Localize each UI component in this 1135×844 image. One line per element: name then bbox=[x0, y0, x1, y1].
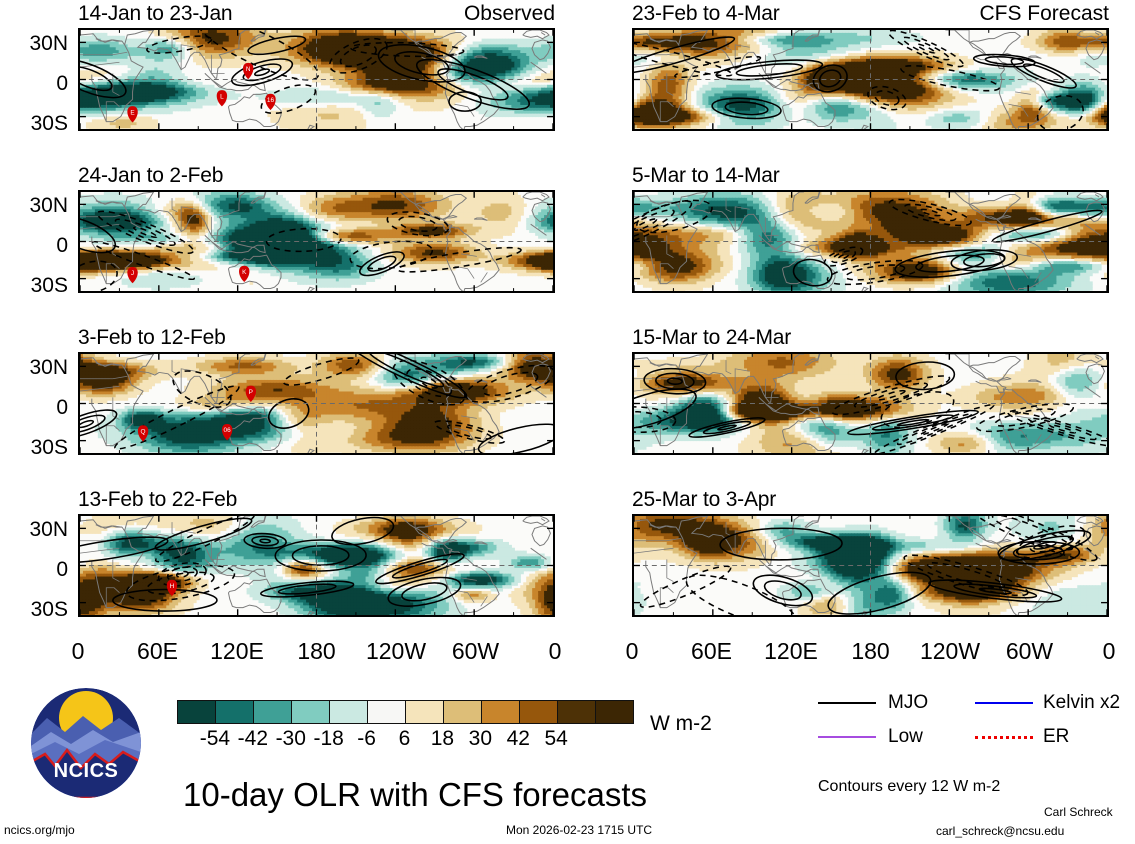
map-canvas-obs-4: H bbox=[80, 516, 553, 615]
colorbar-band-3 bbox=[291, 701, 329, 723]
map-fcst-1[interactable] bbox=[632, 28, 1109, 131]
map-fcst-3[interactable] bbox=[632, 352, 1109, 455]
map-canvas-fcst-2 bbox=[634, 192, 1107, 291]
map-canvas-fcst-1 bbox=[634, 30, 1107, 129]
storm-marker[interactable]: 16 bbox=[265, 94, 275, 110]
x-tick-left-4: 120W bbox=[351, 640, 441, 663]
colorbar-band-10 bbox=[557, 701, 595, 723]
panel-title-obs-1: 14-Jan to 23-Jan bbox=[78, 3, 232, 24]
colorbar-tick-9: 54 bbox=[528, 728, 584, 749]
contour-note: Contours every 12 W m-2 bbox=[818, 779, 1000, 795]
panel-obs-3: 3-Feb to 12-FebPQ06 bbox=[78, 327, 555, 455]
panel-fcst-1: 23-Feb to 4-MarCFS Forecast bbox=[632, 3, 1109, 131]
timestamp: Mon 2026-02-23 1715 UTC bbox=[506, 824, 652, 836]
legend-label-kelvin: Kelvin x2 bbox=[1043, 693, 1120, 712]
colorbar-band-5 bbox=[367, 701, 405, 723]
legend-label-low: Low bbox=[888, 727, 923, 746]
legend-label-mjo: MJO bbox=[888, 693, 928, 712]
legend-label-er: ER bbox=[1043, 727, 1069, 746]
panel-obs-4: 13-Feb to 22-FebH bbox=[78, 489, 555, 617]
x-tick-right-4: 120W bbox=[905, 640, 995, 663]
ncics-logo[interactable]: NCICS bbox=[31, 688, 141, 798]
y-tick-30s-row3: 30S bbox=[0, 437, 68, 458]
author-email[interactable]: carl_schreck@ncsu.edu bbox=[936, 825, 1064, 837]
colorbar-units-label: W m-2 bbox=[650, 713, 712, 734]
panel-obs-2: 24-Jan to 2-FebJK bbox=[78, 165, 555, 293]
panel-title-fcst-1: 23-Feb to 4-Mar bbox=[632, 3, 780, 24]
panel-title-obs-2: 24-Jan to 2-Feb bbox=[78, 165, 223, 186]
colorbar-band-0 bbox=[178, 701, 215, 723]
x-tick-right-6: 0 bbox=[1064, 640, 1135, 663]
y-tick-0-row3: 0 bbox=[0, 397, 68, 418]
storm-marker[interactable]: L bbox=[217, 90, 227, 106]
map-obs-4[interactable]: H bbox=[78, 514, 555, 617]
panel-fcst-4: 25-Mar to 3-Apr bbox=[632, 489, 1109, 617]
x-tick-right-3: 180 bbox=[826, 640, 916, 663]
svg-text:L: L bbox=[220, 93, 224, 100]
author-name: Carl Schreck bbox=[1044, 806, 1113, 818]
svg-text:N: N bbox=[246, 66, 251, 73]
svg-text:E: E bbox=[130, 109, 134, 116]
x-tick-right-5: 60W bbox=[985, 640, 1075, 663]
y-tick-30n-row1: 30N bbox=[0, 33, 68, 54]
map-canvas-obs-3: PQ06 bbox=[80, 354, 553, 453]
panel-obs-1: 14-Jan to 23-JanObservedNL16E bbox=[78, 3, 555, 131]
legend-line-er bbox=[975, 736, 1033, 739]
panel-badge-obs-1: Observed bbox=[464, 3, 555, 24]
map-obs-1[interactable]: NL16E bbox=[78, 28, 555, 131]
map-canvas-fcst-4 bbox=[634, 516, 1107, 615]
x-tick-left-0: 0 bbox=[33, 640, 123, 663]
y-tick-30n-row4: 30N bbox=[0, 519, 68, 540]
x-tick-left-2: 120E bbox=[192, 640, 282, 663]
panel-title-obs-3: 3-Feb to 12-Feb bbox=[78, 327, 226, 348]
colorbar-band-8 bbox=[481, 701, 519, 723]
map-fcst-4[interactable] bbox=[632, 514, 1109, 617]
y-tick-30s-row2: 30S bbox=[0, 275, 68, 296]
colorbar-band-6 bbox=[405, 701, 443, 723]
svg-text:16: 16 bbox=[267, 97, 275, 104]
map-obs-2[interactable]: JK bbox=[78, 190, 555, 293]
colorbar-band-9 bbox=[519, 701, 557, 723]
y-tick-30n-row3: 30N bbox=[0, 357, 68, 378]
colorbar-band-1 bbox=[215, 701, 253, 723]
panel-title-fcst-2: 5-Mar to 14-Mar bbox=[632, 165, 780, 186]
ncics-logo-text: NCICS bbox=[31, 760, 141, 783]
colorbar-band-7 bbox=[443, 701, 481, 723]
site-url[interactable]: ncics.org/mjo bbox=[4, 824, 75, 836]
panel-badge-fcst-1: CFS Forecast bbox=[979, 3, 1109, 24]
storm-marker[interactable]: K bbox=[239, 266, 249, 282]
map-canvas-fcst-3 bbox=[634, 354, 1107, 453]
panel-fcst-2: 5-Mar to 14-Mar bbox=[632, 165, 1109, 293]
legend-line-mjo bbox=[818, 702, 876, 704]
x-tick-right-0: 0 bbox=[587, 640, 677, 663]
colorbar-band-11 bbox=[595, 701, 633, 723]
y-tick-30s-row1: 30S bbox=[0, 113, 68, 134]
x-tick-left-3: 180 bbox=[272, 640, 362, 663]
map-canvas-obs-1: NL16E bbox=[80, 30, 553, 129]
y-tick-30s-row4: 30S bbox=[0, 599, 68, 620]
colorbar bbox=[177, 700, 634, 724]
panel-title-fcst-3: 15-Mar to 24-Mar bbox=[632, 327, 791, 348]
map-fcst-2[interactable] bbox=[632, 190, 1109, 293]
y-tick-30n-row2: 30N bbox=[0, 195, 68, 216]
y-tick-0-row1: 0 bbox=[0, 73, 68, 94]
map-canvas-obs-2: JK bbox=[80, 192, 553, 291]
storm-marker[interactable]: N bbox=[243, 63, 253, 79]
colorbar-band-2 bbox=[253, 701, 291, 723]
y-tick-0-row2: 0 bbox=[0, 235, 68, 256]
x-tick-right-1: 60E bbox=[667, 640, 757, 663]
map-obs-3[interactable]: PQ06 bbox=[78, 352, 555, 455]
x-tick-left-1: 60E bbox=[113, 640, 203, 663]
legend-line-low bbox=[818, 736, 876, 738]
x-tick-left-5: 60W bbox=[431, 640, 521, 663]
x-tick-right-2: 120E bbox=[746, 640, 836, 663]
main-title: 10-day OLR with CFS forecasts bbox=[183, 778, 647, 811]
panel-title-obs-4: 13-Feb to 22-Feb bbox=[78, 489, 237, 510]
y-tick-0-row4: 0 bbox=[0, 559, 68, 580]
legend-line-kelvin bbox=[975, 702, 1033, 704]
colorbar-band-4 bbox=[329, 701, 367, 723]
panel-fcst-3: 15-Mar to 24-Mar bbox=[632, 327, 1109, 455]
panel-title-fcst-4: 25-Mar to 3-Apr bbox=[632, 489, 776, 510]
